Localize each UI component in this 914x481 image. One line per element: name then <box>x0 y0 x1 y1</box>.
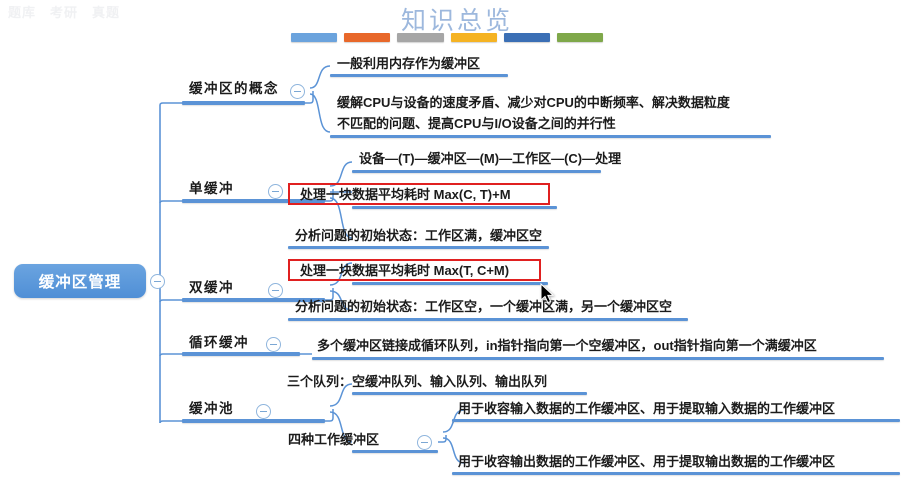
node-concept-c1[interactable]: 一般利用内存作为缓冲区 <box>332 55 485 72</box>
underline-concept-c2 <box>330 135 771 138</box>
node-pool-c2-a[interactable]: 用于收容输入数据的工作缓冲区、用于提取输入数据的工作缓冲区 <box>453 400 840 417</box>
bar-amber <box>451 33 497 42</box>
underline-pool-c2 <box>352 450 438 453</box>
node-double-c1[interactable]: 处理一块数据平均耗时 Max(T, C+M) <box>295 262 514 279</box>
branch-label-pool[interactable]: 缓冲池 <box>184 400 239 417</box>
branch-label-single[interactable]: 单缓冲 <box>184 180 239 197</box>
node-pool-c1[interactable]: 三个队列：空缓冲队列、输入队列、输出队列 <box>282 373 552 390</box>
bar-orange <box>344 33 390 42</box>
node-circular-c1[interactable]: 多个缓冲区链接成循环队列，in指针指向第一个空缓冲区，out指针指向第一个满缓冲… <box>312 337 822 354</box>
collapse-toggle-single[interactable] <box>268 184 283 199</box>
node-double-c2[interactable]: 分析问题的初始状态：工作区空，一个缓冲区满，另一个缓冲区空 <box>290 298 677 315</box>
collapse-toggle-pool-c2[interactable] <box>417 435 432 450</box>
node-pool-c2-b[interactable]: 用于收容输出数据的工作缓冲区、用于提取输出数据的工作缓冲区 <box>453 453 840 470</box>
node-single-c2[interactable]: 处理一块数据平均耗时 Max(C, T)+M <box>295 186 516 203</box>
bar-green <box>557 33 603 42</box>
underline-double-c1 <box>352 282 548 285</box>
title-decoration-bars <box>291 33 603 42</box>
bar-blue-light <box>291 33 337 42</box>
underline-single-c1 <box>352 170 601 173</box>
branch-label-circular[interactable]: 循环缓冲 <box>184 334 254 351</box>
underline-single-c3 <box>288 246 549 249</box>
underline-circular-c1 <box>312 357 884 360</box>
underline-single-c2 <box>352 206 557 209</box>
node-single-c1[interactable]: 设备—(T)—缓冲区—(M)—工作区—(C)—处理 <box>354 150 626 167</box>
branch-label-double[interactable]: 双缓冲 <box>184 279 239 296</box>
underline-branch-circular <box>182 352 300 356</box>
node-concept-c2[interactable]: 缓解CPU与设备的速度矛盾、减少对CPU的中断频率、解决数据粒度 不匹配的问题、… <box>332 92 777 134</box>
node-concept-c2-line1: 缓解CPU与设备的速度矛盾、减少对CPU的中断频率、解决数据粒度 <box>337 92 772 113</box>
collapse-toggle-circular[interactable] <box>266 337 281 352</box>
underline-branch-pool <box>182 419 325 423</box>
bar-gray <box>397 33 443 42</box>
underline-pool-c2-a <box>452 419 900 422</box>
root-node[interactable]: 缓冲区管理 <box>14 264 146 298</box>
collapse-toggle-double[interactable] <box>268 283 283 298</box>
page-title: 知识总览 <box>0 1 914 37</box>
underline-branch-concept <box>182 101 305 105</box>
root-collapse-toggle[interactable] <box>150 274 165 289</box>
mouse-cursor <box>540 283 556 305</box>
mindmap-canvas: 题库考研真题 知识总览 <box>0 0 914 481</box>
bar-blue-dark <box>504 33 550 42</box>
node-concept-c2-line2: 不匹配的问题、提高CPU与I/O设备之间的并行性 <box>337 113 772 134</box>
underline-pool-c2-b <box>452 472 900 475</box>
node-single-c3[interactable]: 分析问题的初始状态：工作区满，缓冲区空 <box>290 227 547 244</box>
underline-pool-c1 <box>352 392 587 395</box>
branch-label-concept[interactable]: 缓冲区的概念 <box>184 80 284 97</box>
collapse-toggle-pool[interactable] <box>256 404 271 419</box>
underline-concept-c1 <box>330 74 508 77</box>
collapse-toggle-concept[interactable] <box>290 84 305 99</box>
node-pool-c2[interactable]: 四种工作缓冲区 <box>283 431 384 448</box>
underline-double-c2 <box>288 318 688 321</box>
